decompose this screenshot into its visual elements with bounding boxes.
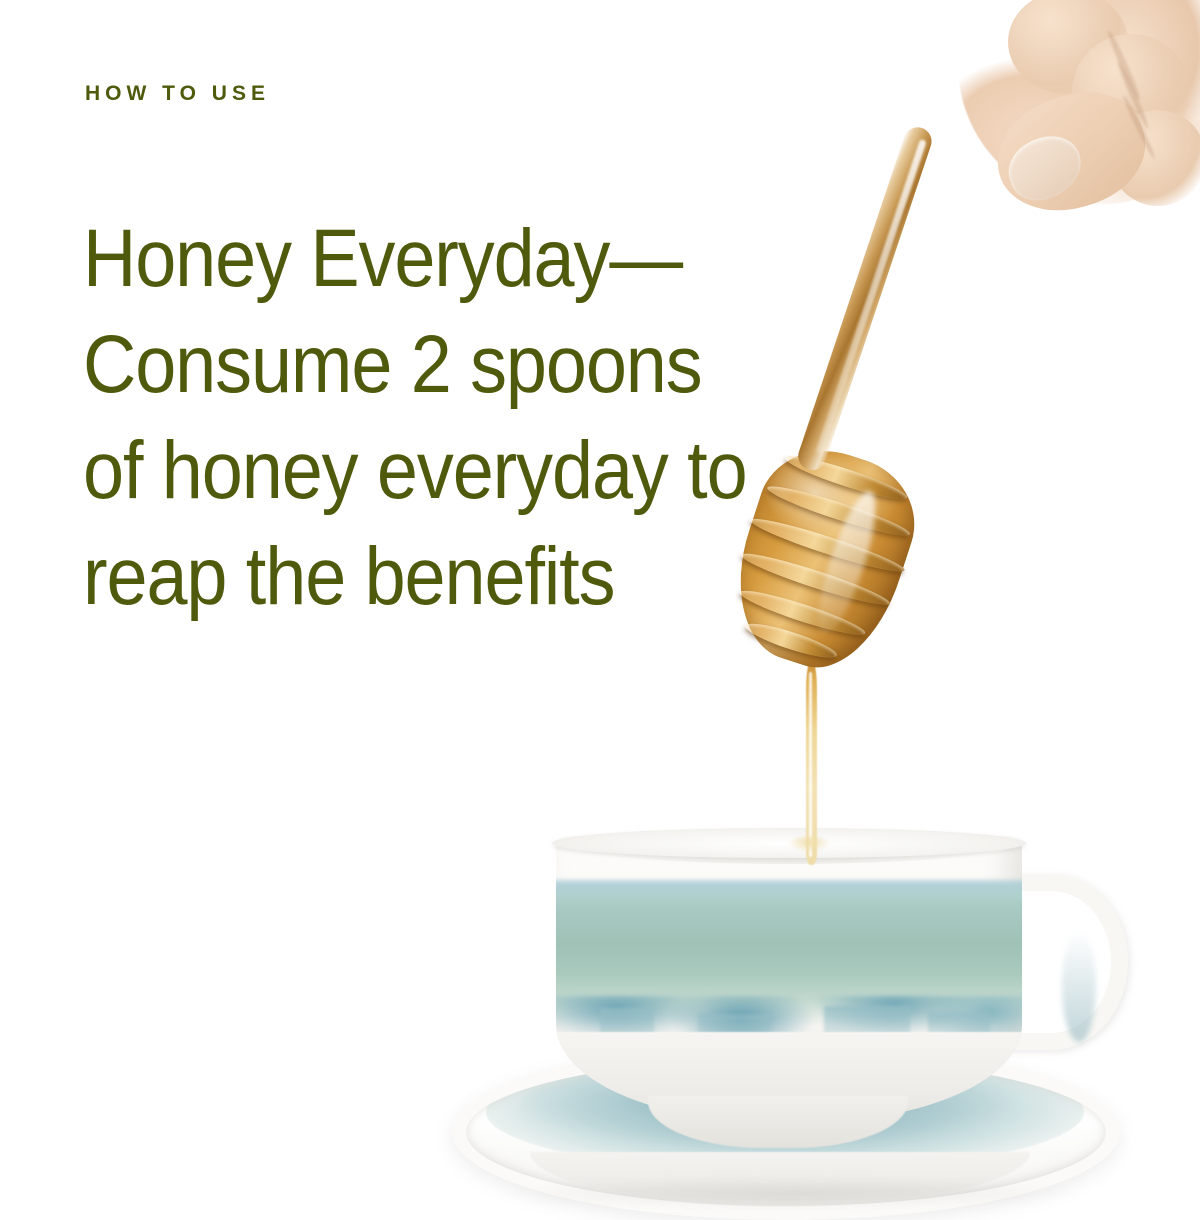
saucer-base: [530, 1152, 1030, 1206]
cup-glaze-drip: [928, 1012, 990, 1052]
contact-shadow: [500, 1178, 1080, 1208]
cup-inner-rim: [556, 836, 1022, 864]
honey-dipper-head: [715, 433, 931, 685]
cup-glaze-drip: [698, 1014, 770, 1050]
dipper-ridge: [748, 512, 907, 578]
saucer-rim: [452, 1044, 1120, 1220]
thumb: [983, 77, 1158, 226]
honey-dipper-handle-gloss: [815, 139, 926, 454]
cup-glaze-drip: [824, 1006, 910, 1056]
dipper-ridge: [743, 618, 840, 664]
honey-pool: [788, 836, 830, 852]
saucer-glaze-well: [486, 1052, 1084, 1172]
finger: [1072, 34, 1190, 150]
headline-line-3: of honey everyday to: [83, 418, 731, 524]
cup-glaze-drip: [600, 1008, 654, 1052]
thumbnail: [1000, 127, 1090, 209]
photo-background-fade: [440, 790, 1140, 860]
finger: [1008, 0, 1128, 94]
dipper-head-body: [715, 433, 931, 685]
dipper-ridge: [765, 480, 913, 543]
dipper-ridge: [783, 450, 910, 506]
dipper-ridge: [737, 584, 868, 641]
poster-canvas: HOW TO USE Honey Everyday— Consume 2 spo…: [0, 0, 1200, 1200]
finger-crease: [1121, 94, 1157, 160]
dipper-head-highlight: [808, 486, 887, 639]
headline-line-4: reap the benefits: [83, 524, 731, 630]
finger: [1110, 110, 1200, 206]
cup-glaze-drip-edge: [556, 996, 1022, 1036]
finger-crease: [1115, 60, 1151, 130]
hand: [958, 0, 1200, 204]
saucer-glaze-inner: [520, 1060, 1040, 1152]
dipper-ridge: [739, 547, 893, 611]
headline: Honey Everyday— Consume 2 spoons of hone…: [83, 206, 731, 630]
cup-handle-shadow: [1062, 930, 1096, 1042]
cup-lower-body: [556, 1032, 1022, 1122]
honey-stream: [806, 660, 817, 865]
cup-rim: [552, 828, 1026, 858]
eyebrow-label: HOW TO USE: [85, 82, 270, 106]
cup-glaze-band-top: [556, 880, 1022, 902]
teacup: [556, 836, 1022, 1122]
finger: [1028, 96, 1156, 196]
cup-glaze-band: [556, 884, 1022, 1026]
honey-stream-highlight: [809, 672, 812, 857]
saucer: [452, 1044, 1120, 1220]
honey-dipper-handle: [794, 124, 935, 474]
cup-handle: [996, 874, 1128, 1050]
finger-crease: [1105, 29, 1142, 101]
cup-foot: [648, 1096, 908, 1148]
headline-line-1: Honey Everyday—: [83, 206, 731, 312]
headline-line-2: Consume 2 spoons: [83, 312, 731, 418]
